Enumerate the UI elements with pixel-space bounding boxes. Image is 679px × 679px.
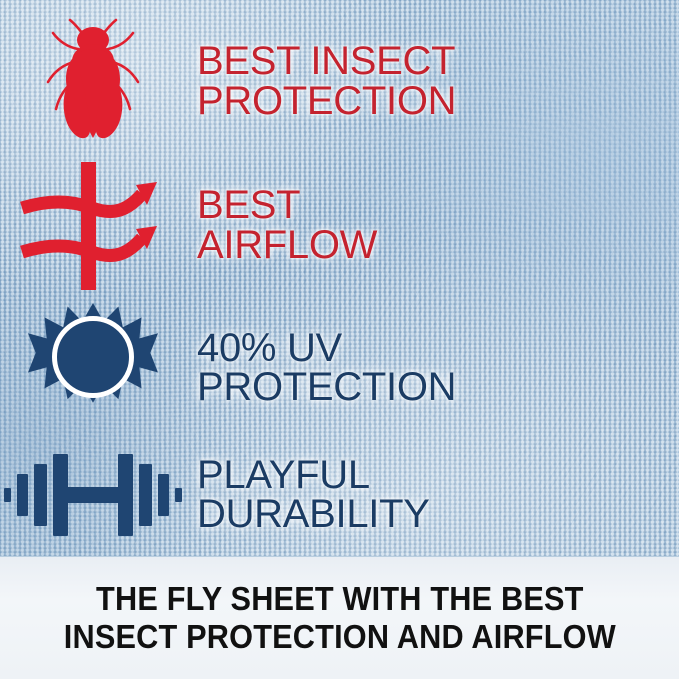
feature-label-insect-protection: BEST INSECT PROTECTION <box>197 42 679 120</box>
caption-banner: THE FLY SHEET WITH THE BEST INSECT PROTE… <box>0 556 679 679</box>
airflow-arrows-icon <box>18 160 168 292</box>
label-cell-durability: PLAYFUL DURABILITY <box>185 456 679 534</box>
feature-row-uv-protection: 40% UV PROTECTION <box>0 298 679 438</box>
icon-cell-durability <box>0 446 185 544</box>
fly-icon <box>34 17 152 147</box>
feature-label-uv-protection: 40% UV PROTECTION <box>197 329 679 407</box>
feature-row-insect-protection: BEST INSECT PROTECTION <box>0 14 679 149</box>
label-cell-airflow: BEST AIRFLOW <box>185 186 679 264</box>
dumbbell-icon <box>4 446 182 544</box>
feature-list: BEST INSECT PROTECTION <box>0 0 679 556</box>
product-feature-infographic: BEST INSECT PROTECTION <box>0 0 679 679</box>
caption-headline: THE FLY SHEET WITH THE BEST INSECT PROTE… <box>63 580 615 656</box>
sun-icon <box>27 302 159 434</box>
feature-label-airflow: BEST AIRFLOW <box>197 186 679 264</box>
icon-cell-airflow <box>0 160 185 292</box>
label-cell-insect: BEST INSECT PROTECTION <box>185 42 679 120</box>
feature-row-durability: PLAYFUL DURABILITY <box>0 435 679 555</box>
feature-label-durability: PLAYFUL DURABILITY <box>197 456 679 534</box>
feature-row-airflow: BEST AIRFLOW <box>0 158 679 293</box>
label-cell-uv: 40% UV PROTECTION <box>185 329 679 407</box>
icon-cell-insect <box>0 17 185 147</box>
icon-cell-uv <box>0 302 185 434</box>
